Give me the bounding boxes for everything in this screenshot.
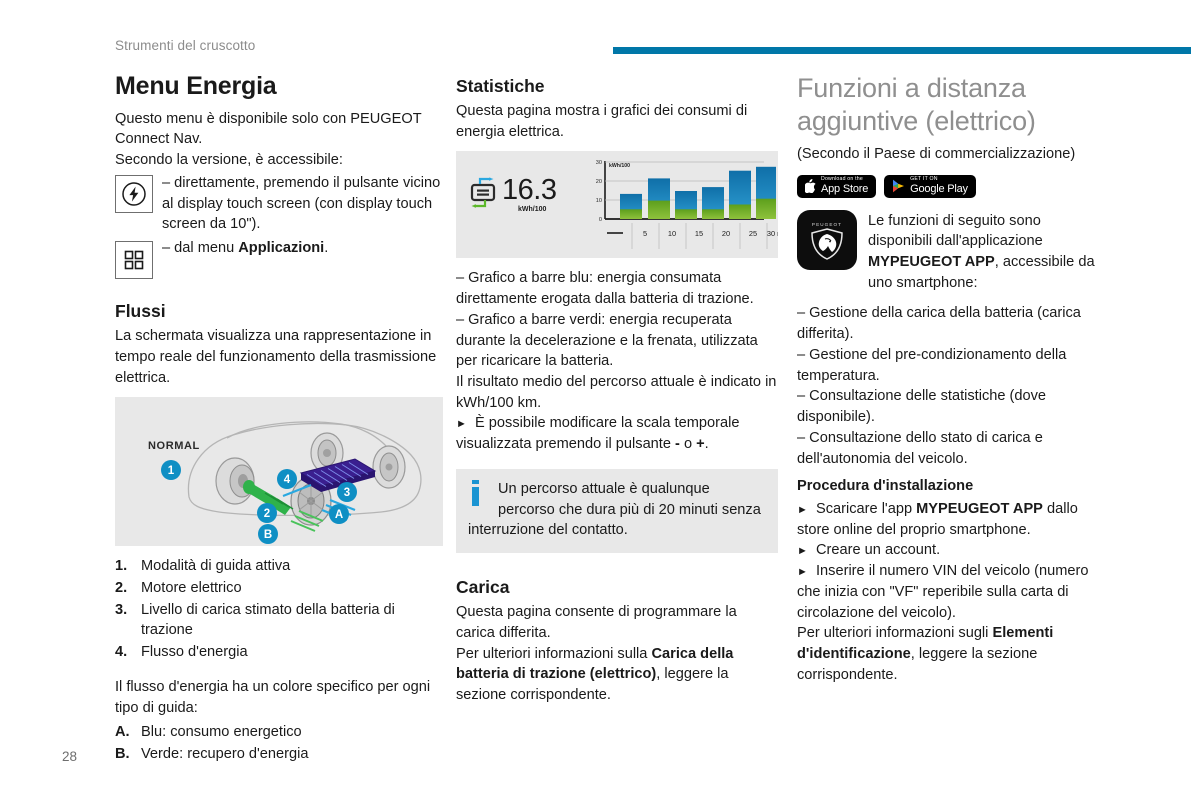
list-marker: 1. [115, 556, 127, 577]
timescale-instruction-mid: o [680, 436, 696, 452]
arrow-bullet-icon: ► [797, 545, 808, 557]
heading-statistiche: Statistiche [456, 76, 778, 97]
running-head: Strumenti del cruscotto [115, 38, 255, 53]
heading-carica: Carica [456, 577, 778, 598]
average-result-paragraph: Il risultato medio del percorso attuale … [456, 372, 778, 413]
energy-bolt-icon [115, 175, 153, 213]
manual-page: Strumenti del cruscotto Menu Energia Que… [0, 0, 1191, 794]
list-item: 1.Modalità di guida attiva [115, 556, 443, 577]
feature-item: – Consultazione delle statistiche (dove … [797, 386, 1102, 427]
list-label: Flusso d'energia [141, 644, 248, 660]
access-method-2-text: – dal menu Applicazioni. [162, 238, 328, 259]
statistics-screen-figure: 16.3 kWh/100 30 [456, 151, 778, 258]
statistiche-paragraph: Questa pagina mostra i grafici dei consu… [456, 101, 778, 142]
install-step-lead: Inserire il numero VIN del veicolo (nume… [797, 563, 1089, 620]
timescale-instruction-end: . [705, 436, 709, 452]
app-intro-text: Le funzioni di seguito sono disponibili … [868, 210, 1102, 294]
install-step-lead: Creare un account. [816, 542, 940, 558]
svg-text:20: 20 [722, 229, 730, 238]
intro-paragraph-2: Secondo la versione, è accessibile: [115, 150, 443, 171]
svg-text:4: 4 [284, 474, 291, 486]
feature-item: – Gestione del pre-condizionamento della… [797, 345, 1102, 386]
install-step: ► Scaricare l'app MYPEUGEOT APP dallo st… [797, 499, 1102, 540]
apple-icon [805, 179, 816, 193]
information-note-box: Un percorso attuale è qualunque percorso… [456, 469, 778, 553]
list-label: Verde: recupero d'energia [141, 746, 309, 762]
install-step-bold: MYPEUGEOT APP [916, 501, 1043, 517]
list-item: B.Verde: recupero d'energia [115, 744, 443, 765]
list-marker: 3. [115, 600, 127, 621]
app-intro-lead: Le funzioni di seguito sono disponibili … [868, 213, 1043, 250]
closing-lead: Per ulteriori informazioni sugli [797, 625, 992, 641]
list-label: Motore elettrico [141, 580, 242, 596]
list-marker: B. [115, 744, 130, 765]
google-play-badge-text: GET IT ON Google Play [910, 177, 968, 194]
list-label: Livello di carica stimato della batteria… [141, 602, 395, 639]
information-icon [472, 480, 479, 509]
note-line-3: interruzione del contatto. [468, 520, 766, 541]
access-method-2-lead: – dal menu [162, 240, 238, 256]
list-marker: A. [115, 722, 130, 743]
google-play-badge[interactable]: GET IT ON Google Play [884, 175, 976, 198]
svg-text:1: 1 [168, 465, 175, 477]
app-name-bold: MYPEUGEOT APP [868, 254, 995, 270]
note-line-2: percorso che dura più di 20 minuti senza [468, 500, 766, 521]
flux-legend-letters: A.Blu: consumo energetico B.Verde: recup… [115, 722, 443, 764]
bullet-blue-bars: – Grafico a barre blu: energia consumata… [456, 268, 778, 309]
list-label: Modalità di guida attiva [141, 558, 290, 574]
closing-paragraph: Per ulteriori informazioni sugli Element… [797, 623, 1102, 685]
app-store-badge-bottom: App Store [821, 184, 868, 195]
app-store-badge[interactable]: Download on the App Store [797, 175, 876, 198]
access-method-2-bold: Applicazioni [238, 240, 324, 256]
svg-text:3: 3 [344, 487, 350, 499]
header-rule [613, 47, 1191, 54]
svg-text:30 min: 30 min [767, 229, 778, 238]
svg-text:PEUGEOT: PEUGEOT [812, 222, 842, 227]
page-number: 28 [62, 749, 77, 764]
access-method-2: – dal menu Applicazioni. [115, 238, 443, 279]
energy-flow-diagram: NORMAL 1 2 3 4 A B [115, 397, 443, 546]
peugeot-app-logo: PEUGEOT [797, 210, 857, 270]
play-triangle-icon [892, 179, 905, 193]
carica-paragraph-2: Per ulteriori informazioni sulla Carica … [456, 644, 778, 706]
list-item: A.Blu: consumo energetico [115, 722, 443, 743]
flux-legend-numbered: 1.Modalità di guida attiva 2.Motore elet… [115, 556, 443, 663]
svg-text:NORMAL: NORMAL [148, 440, 200, 452]
feature-item: – Gestione della carica della batteria (… [797, 303, 1102, 344]
heading-procedura-installazione: Procedura d'installazione [797, 477, 1102, 497]
bullet-green-bars: – Grafico a barre verdi: energia recuper… [456, 310, 778, 372]
carica-paragraph-1: Questa pagina consente di programmare la… [456, 602, 778, 643]
svg-text:10: 10 [668, 229, 676, 238]
list-marker: 2. [115, 578, 127, 599]
note-line-1: Un percorso attuale è qualunque [468, 479, 766, 500]
intro-paragraph-1: Questo menu è disponibile solo con PEUGE… [115, 109, 443, 150]
access-method-1: – direttamente, premendo il pulsante vic… [115, 173, 443, 235]
svg-text:5: 5 [643, 229, 647, 238]
svg-text:30: 30 [596, 160, 602, 166]
install-step: ► Inserire il numero VIN del veicolo (nu… [797, 561, 1102, 623]
svg-text:16.3: 16.3 [502, 174, 556, 206]
svg-text:15: 15 [695, 229, 703, 238]
app-store-badge-top: Download on the [821, 177, 868, 182]
app-store-badge-text: Download on the App Store [821, 177, 868, 194]
flussi-paragraph: La schermata visualizza una rappresentaz… [115, 326, 443, 388]
plus-button-label: + [696, 436, 705, 452]
list-label: Blu: consumo energetico [141, 724, 302, 740]
store-badges: Download on the App Store GET IT ON [797, 175, 1102, 198]
list-item: 3.Livello di carica stimato della batter… [115, 600, 443, 641]
access-method-2-tail: . [324, 240, 328, 256]
svg-text:kWh/100: kWh/100 [518, 206, 547, 213]
timescale-instruction: ► È possibile modificare la scala tempor… [456, 413, 778, 454]
install-step-lead: Scaricare l'app [816, 501, 916, 517]
svg-text:kWh/100: kWh/100 [609, 163, 630, 169]
list-item: 4.Flusso d'energia [115, 642, 443, 663]
feature-item: – Consultazione dello stato di carica e … [797, 428, 1102, 469]
app-intro-block: PEUGEOT Le funzioni di seguito sono disp… [797, 210, 1102, 294]
section-subtitle: (Secondo il Paese di commercializzazione… [797, 144, 1102, 165]
arrow-bullet-icon: ► [797, 566, 808, 578]
section-title-remote-functions: Funzioni a distanza aggiuntive (elettric… [797, 72, 1102, 138]
list-item: 2.Motore elettrico [115, 578, 443, 599]
column-middle: Statistiche Questa pagina mostra i grafi… [456, 76, 778, 706]
install-step: ► Creare un account. [797, 540, 1102, 561]
svg-text:2: 2 [264, 508, 270, 520]
access-method-1-text: – direttamente, premendo il pulsante vic… [162, 173, 443, 235]
list-marker: 4. [115, 642, 127, 663]
arrow-bullet-icon: ► [456, 418, 467, 430]
svg-text:B: B [264, 529, 272, 541]
colour-paragraph: Il flusso d'energia ha un colore specifi… [115, 677, 443, 718]
heading-flussi: Flussi [115, 301, 443, 322]
page-title: Menu Energia [115, 72, 443, 101]
svg-text:A: A [335, 509, 343, 521]
carica-lead: Per ulteriori informazioni sulla [456, 646, 651, 662]
arrow-bullet-icon: ► [797, 504, 808, 516]
applications-grid-icon [115, 241, 153, 279]
google-play-badge-top: GET IT ON [910, 177, 968, 182]
column-left: Menu Energia Questo menu è disponibile s… [115, 72, 443, 766]
column-right: Funzioni a distanza aggiuntive (elettric… [797, 72, 1102, 685]
svg-text:10: 10 [596, 198, 602, 204]
svg-text:25: 25 [749, 229, 757, 238]
svg-text:20: 20 [596, 179, 602, 185]
svg-text:0: 0 [599, 217, 602, 223]
google-play-badge-bottom: Google Play [910, 184, 968, 195]
